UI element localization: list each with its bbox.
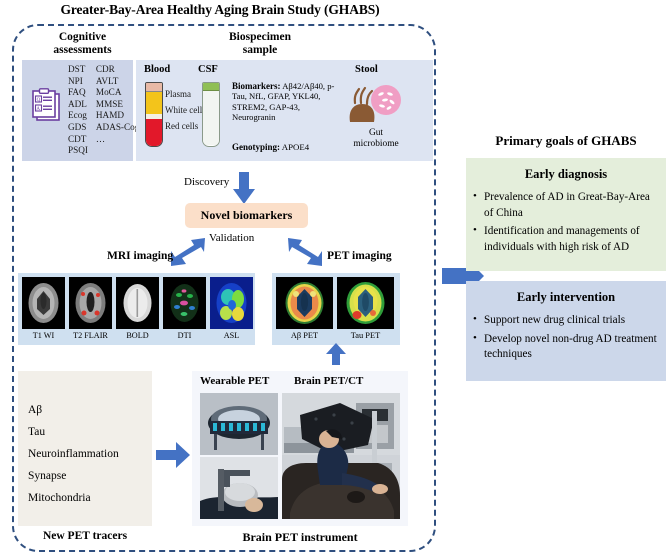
mri-thumbnail-t2flair: T2 FLAIR [69, 277, 112, 340]
csf-tube-icon [202, 82, 220, 147]
mri-imaging-strip: T1 WI T2 FLAIR [18, 273, 255, 345]
pet-thumbnail-abeta: Aβ PET [276, 277, 333, 340]
genotyping-title: Genotyping: [232, 142, 280, 152]
mri-label: BOLD [116, 331, 159, 340]
photo-wearable-pet-ring [200, 393, 278, 455]
blood-layer-red-cells-label: Red cells [165, 121, 198, 132]
validation-arrow-left-icon [171, 238, 205, 266]
validation-arrow-right-icon [288, 238, 322, 266]
biospecimen-header-line2: sample [190, 44, 330, 57]
wearable-pet-label: Wearable PET [200, 375, 269, 387]
biospecimen-header-line1: Biospecimen [190, 31, 330, 44]
pet-imaging-strip: Aβ PET Tau PET [272, 273, 400, 345]
mri-thumbnail-bold: BOLD [116, 277, 159, 340]
cognitive-assessments-box: Q A DST NPI FAQ ADL Ecog GDS CDT PSQI [22, 60, 133, 161]
mri-label: T2 FLAIR [69, 331, 112, 340]
list-item: MoCA [96, 87, 139, 99]
list-item: ADAS-Cog [96, 122, 139, 134]
gut-caption-line2: microbiome [334, 139, 418, 150]
list-item: Prevalence of AD in Great-Bay-Area of Ch… [484, 190, 658, 221]
early-diagnosis-list: Prevalence of AD in Great-Bay-Area of Ch… [466, 190, 666, 255]
early-intervention-list: Support new drug clinical trials Develop… [466, 313, 666, 363]
list-item: AVLT [96, 76, 139, 88]
list-item: … [96, 134, 139, 146]
pet-tracer-list: Aβ Tau Neuroinflammation Synapse Mitocho… [28, 399, 119, 509]
biospecimen-sample-header: Biospecimen sample [190, 31, 330, 57]
list-item: CDT [68, 134, 88, 146]
mri-label: DTI [163, 331, 206, 340]
pet-instrument-up-arrow-icon [326, 343, 346, 365]
cognitive-test-column-1: DST NPI FAQ ADL Ecog GDS CDT PSQI [68, 64, 88, 157]
gut-caption-line1: Gut [334, 128, 418, 139]
cognitive-header-line1: Cognitive [30, 31, 135, 44]
gut-microbiome-caption: Gut microbiome [334, 128, 418, 150]
blood-label: Blood [144, 64, 170, 75]
svg-text:Q: Q [37, 98, 41, 103]
brain-image-abeta-pet [276, 277, 333, 329]
list-item: Mitochondria [28, 487, 119, 509]
biomarkers-title: Biomarkers: [232, 81, 281, 91]
brain-pet-ct-label: Brain PET/CT [294, 375, 363, 387]
blood-tube-icon [145, 82, 163, 147]
list-item: Aβ [28, 399, 119, 421]
biospecimen-sample-box: Blood CSF Stool Plasma White cells Red c… [136, 60, 433, 161]
brain-pet-instrument-caption: Brain PET instrument [192, 530, 408, 545]
brain-image-bold [116, 277, 159, 329]
biomarkers-block: Biomarkers: Aβ42/Aβ40, p-Tau, NfL, GFAP,… [232, 81, 344, 123]
blood-layer-white-cells-label: White cells [165, 105, 206, 116]
csf-label: CSF [198, 64, 218, 75]
list-item: MMSE [96, 99, 139, 111]
brain-pet-instrument-box: Wearable PET Brain PET/CT [192, 371, 408, 526]
novel-biomarkers-box: Novel biomarkers [185, 203, 308, 228]
novel-biomarkers-label: Novel biomarkers [201, 208, 293, 223]
list-item: Synapse [28, 465, 119, 487]
brain-image-t2flair [69, 277, 112, 329]
new-pet-tracers-box: Aβ Tau Neuroinflammation Synapse Mitocho… [18, 371, 152, 526]
stool-label: Stool [355, 64, 378, 75]
early-intervention-box: Early intervention Support new drug clin… [466, 281, 666, 381]
validation-label: Validation [209, 232, 254, 244]
list-item: Develop novel non-drug AD treatment tech… [484, 332, 658, 363]
mri-label: ASL [210, 331, 253, 340]
list-item: Identification and managements of indivi… [484, 224, 658, 255]
new-pet-tracers-caption: New PET tracers [18, 530, 152, 542]
svg-text:A: A [36, 107, 40, 112]
pet-thumbnail-tau: Tau PET [337, 277, 394, 340]
early-intervention-heading: Early intervention [466, 290, 666, 305]
mri-imaging-label: MRI imaging [107, 250, 173, 262]
list-item: GDS [68, 122, 88, 134]
photo-wearable-pet-helmet [200, 457, 278, 519]
list-item: PSQI [68, 145, 88, 157]
discovery-arrow-icon [233, 172, 255, 204]
list-item: HAMD [96, 110, 139, 122]
genotyping-block: Genotyping: APOE4 [232, 142, 309, 152]
gut-microbiome-icon [344, 80, 406, 126]
early-diagnosis-box: Early diagnosis Prevalence of AD in Grea… [466, 158, 666, 271]
brain-image-tau-pet [337, 277, 394, 329]
list-item: FAQ [68, 87, 88, 99]
cognitive-header-line2: assessments [30, 44, 135, 57]
tracers-to-instrument-arrow-icon [156, 442, 190, 468]
primary-goals-title: Primary goals of GHABS [466, 133, 666, 149]
mri-label: T1 WI [22, 331, 65, 340]
list-item: DST [68, 64, 88, 76]
cognitive-assessments-header: Cognitive assessments [30, 31, 135, 57]
discovery-label: Discovery [184, 176, 229, 188]
cognitive-test-list: DST NPI FAQ ADL Ecog GDS CDT PSQI CDR AV… [68, 64, 139, 157]
list-item: Tau [28, 421, 119, 443]
genotyping-value: APOE4 [282, 142, 309, 152]
page-title: Greater-Bay-Area Healthy Aging Brain Stu… [0, 2, 440, 18]
brain-image-dti [163, 277, 206, 329]
brain-image-asl [210, 277, 253, 329]
pet-label: Tau PET [337, 331, 394, 340]
list-item: NPI [68, 76, 88, 88]
brain-image-t1wi [22, 277, 65, 329]
early-diagnosis-heading: Early diagnosis [466, 167, 666, 182]
blood-layer-plasma-label: Plasma [165, 89, 191, 100]
mri-thumbnail-dti: DTI [163, 277, 206, 340]
mri-thumbnail-t1wi: T1 WI [22, 277, 65, 340]
mri-thumbnail-asl: ASL [210, 277, 253, 340]
cognitive-test-column-2: CDR AVLT MoCA MMSE HAMD ADAS-Cog … [96, 64, 139, 157]
mri-thumbnail-row: T1 WI T2 FLAIR [22, 277, 253, 340]
list-item: ADL [68, 99, 88, 111]
list-item: CDR [96, 64, 139, 76]
pet-label: Aβ PET [276, 331, 333, 340]
diagram-canvas: Greater-Bay-Area Healthy Aging Brain Stu… [0, 0, 669, 560]
list-item: Ecog [68, 110, 88, 122]
questionnaire-clipboard-icon: Q A [30, 88, 64, 124]
photo-brain-pet-ct-scanner [282, 393, 400, 519]
pet-thumbnail-row: Aβ PET Tau PET [276, 277, 394, 340]
list-item: Support new drug clinical trials [484, 313, 658, 329]
pet-imaging-label: PET imaging [327, 250, 392, 262]
list-item: Neuroinflammation [28, 443, 119, 465]
